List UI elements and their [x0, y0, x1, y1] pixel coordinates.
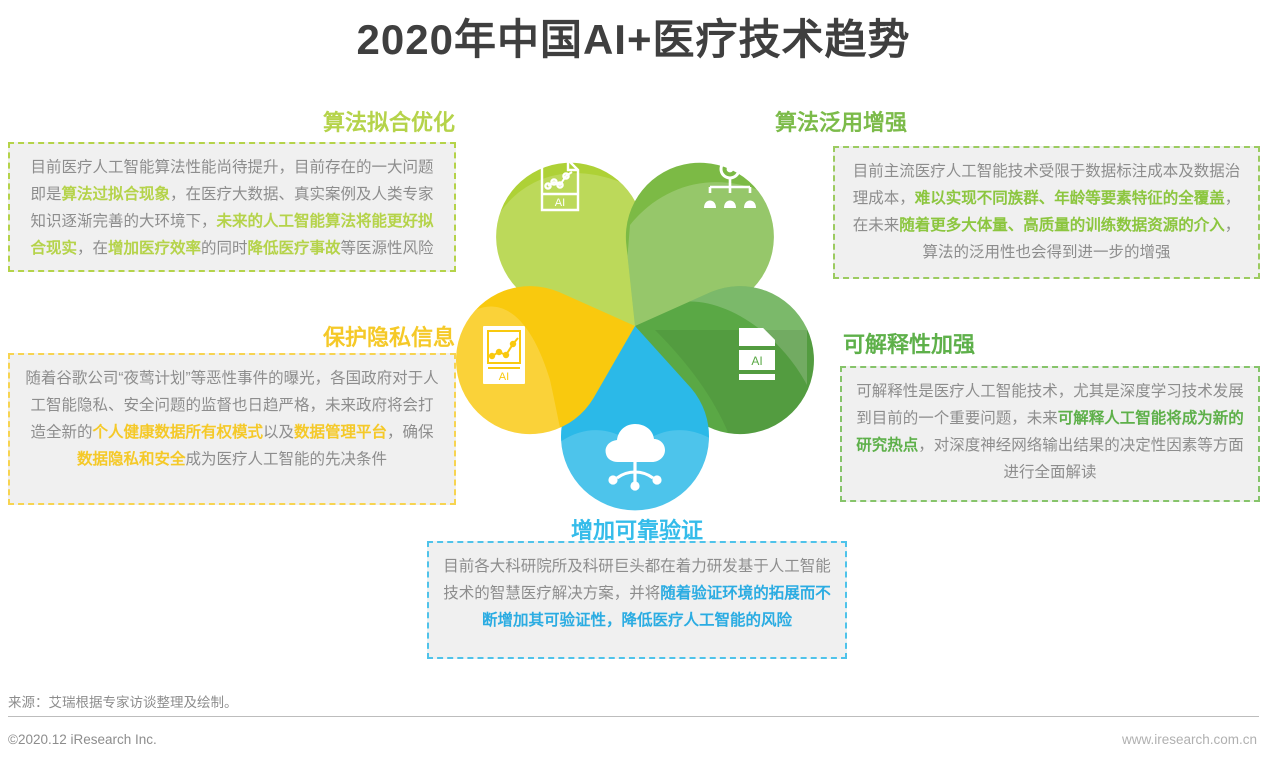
emphasis-text: 数据管理平台	[294, 424, 387, 441]
body-text: ，确保	[387, 424, 434, 441]
flower-diagram: AI AI	[455, 130, 815, 520]
svg-text:AI: AI	[555, 197, 565, 209]
source-note: 来源：艾瑞根据专家访谈整理及绘制。	[8, 693, 238, 713]
emphasis-text: 随着更多大体量、高质量的训练数据资源的介入	[899, 217, 1225, 234]
text-box-algorithm-fitting-optimization: 目前医疗人工智能算法性能尚待提升，目前存在的一大问题即是算法过拟合现象，在医疗大…	[8, 142, 456, 272]
emphasis-text: 个人健康数据所有权模式	[92, 424, 263, 441]
heading-interpretability-enhancement: 可解释性加强	[843, 330, 1263, 360]
text-box-algorithm-generalization-enhancement: 目前主流医疗人工智能技术受限于数据标注成本及数据治理成本，难以实现不同族群、年龄…	[833, 146, 1260, 279]
body-text: ，在	[77, 240, 108, 257]
emphasis-text: 难以实现不同族群、年龄等要素特征的全覆盖	[915, 190, 1225, 207]
svg-text:AI: AI	[751, 354, 762, 368]
emphasis-text: 算法过拟合现象	[61, 186, 170, 203]
emphasis-text: 数据隐私和安全	[77, 451, 186, 468]
text-box-privacy-protection: 随着谷歌公司“夜莺计划”等恶性事件的曝光，各国政府对于人工智能隐私、安全问题的监…	[8, 353, 456, 505]
page-title: 2020年中国AI+医疗技术趋势	[0, 12, 1267, 68]
emphasis-text: 降低医疗事故	[248, 240, 341, 257]
text-box-interpretability-enhancement: 可解释性是医疗人工智能技术，尤其是深度学习技术发展到目前的一个重要问题，未来可解…	[840, 366, 1260, 502]
ai-document-chart-icon: AI	[483, 326, 525, 384]
heading-privacy-protection: 保护隐私信息	[0, 323, 460, 353]
heading-algorithm-fitting-optimization: 算法拟合优化	[0, 108, 460, 138]
website-url: www.iresearch.com.cn	[1122, 730, 1257, 750]
body-text: 成为医疗人工智能的先决条件	[186, 451, 388, 468]
infographic-page: 2020年中国AI+医疗技术趋势 算法拟合优化 算法泛用增强 保护隐私信息 可解…	[0, 0, 1267, 762]
svg-text:AI: AI	[499, 371, 509, 383]
body-text: 的同时	[201, 240, 248, 257]
emphasis-text: 增加医疗效率	[108, 240, 201, 257]
copyright-text: ©2020.12 iResearch Inc.	[8, 730, 157, 750]
body-text: 以及	[263, 424, 294, 441]
body-text: 等医源性风险	[341, 240, 434, 257]
text-box-reliable-verification: 目前各大科研院所及科研巨头都在着力研发基于人工智能技术的智慧医疗解决方案，并将随…	[427, 541, 847, 659]
body-text: ，对深度神经网络输出结果的决定性因素等方面进行全面解读	[918, 437, 1244, 481]
footer-divider	[8, 716, 1259, 717]
heading-algorithm-generalization-enhancement: 算法泛用增强	[775, 108, 1255, 138]
